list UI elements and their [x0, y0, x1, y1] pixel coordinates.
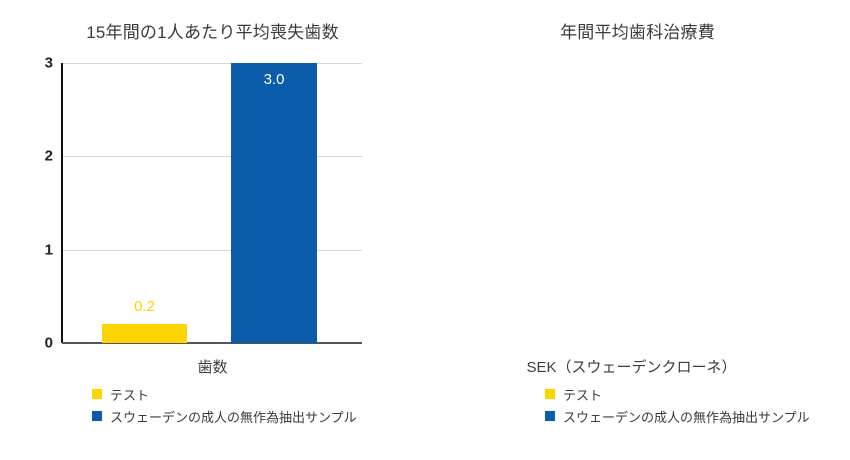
legend-label-test-left: テスト — [110, 385, 149, 404]
chart-panel-tooth-loss: 15年間の1人あたり平均喪失歯数 3 2 1 0 0.2 3.0 歯数 — [0, 0, 425, 460]
legend-swatch-blue-icon — [545, 411, 555, 421]
plot-area-left: 3 2 1 0 0.2 3.0 — [62, 63, 362, 343]
legend-right: テスト スウェーデンの成人の無作為抽出サンプル — [545, 383, 810, 427]
bar-label-left-sweden: 3.0 — [264, 71, 285, 88]
y-tick-left-3: 0 — [45, 335, 53, 352]
gridline-left-2 — [62, 156, 362, 157]
gridline-left-3 — [62, 63, 362, 64]
legend-item-test-right[interactable]: テスト — [545, 383, 810, 405]
legend-label-sweden-right: スウェーデンの成人の無作為抽出サンプル — [563, 407, 810, 426]
x-axis-label-left: 歯数 — [0, 356, 425, 377]
bar-left-test[interactable]: 0.2 — [102, 324, 187, 343]
legend-label-sweden-left: スウェーデンの成人の無作為抽出サンプル — [110, 407, 357, 426]
y-tick-left-0: 3 — [45, 55, 53, 72]
chart-title-left: 15年間の1人あたり平均喪失歯数 — [0, 18, 425, 43]
legend-label-test-right: テスト — [563, 385, 602, 404]
legend-swatch-blue-icon — [92, 411, 102, 421]
legend-item-sweden-left[interactable]: スウェーデンの成人の無作為抽出サンプル — [92, 405, 357, 427]
y-tick-left-2: 1 — [45, 242, 53, 259]
bar-label-left-test: 0.2 — [134, 298, 155, 315]
legend-swatch-yellow-icon — [545, 389, 555, 399]
bar-left-sweden[interactable]: 3.0 — [231, 63, 317, 343]
gridline-left-1 — [62, 250, 362, 251]
x-axis-label-right: SEK（スウェーデンクローネ） — [485, 356, 778, 377]
dual-bar-chart-figure: 15年間の1人あたり平均喪失歯数 3 2 1 0 0.2 3.0 歯数 — [0, 0, 850, 460]
legend-left: テスト スウェーデンの成人の無作為抽出サンプル — [92, 383, 357, 427]
y-axis-left — [61, 63, 63, 343]
legend-swatch-yellow-icon — [92, 389, 102, 399]
y-tick-left-1: 2 — [45, 148, 53, 165]
chart-panel-dental-cost: 年間平均歯科治療費 1250 1000 750 500 250 0 — [425, 0, 850, 460]
legend-item-test-left[interactable]: テスト — [92, 383, 357, 405]
legend-item-sweden-right[interactable]: スウェーデンの成人の無作為抽出サンプル — [545, 405, 810, 427]
chart-title-right: 年間平均歯科治療費 — [425, 18, 850, 43]
